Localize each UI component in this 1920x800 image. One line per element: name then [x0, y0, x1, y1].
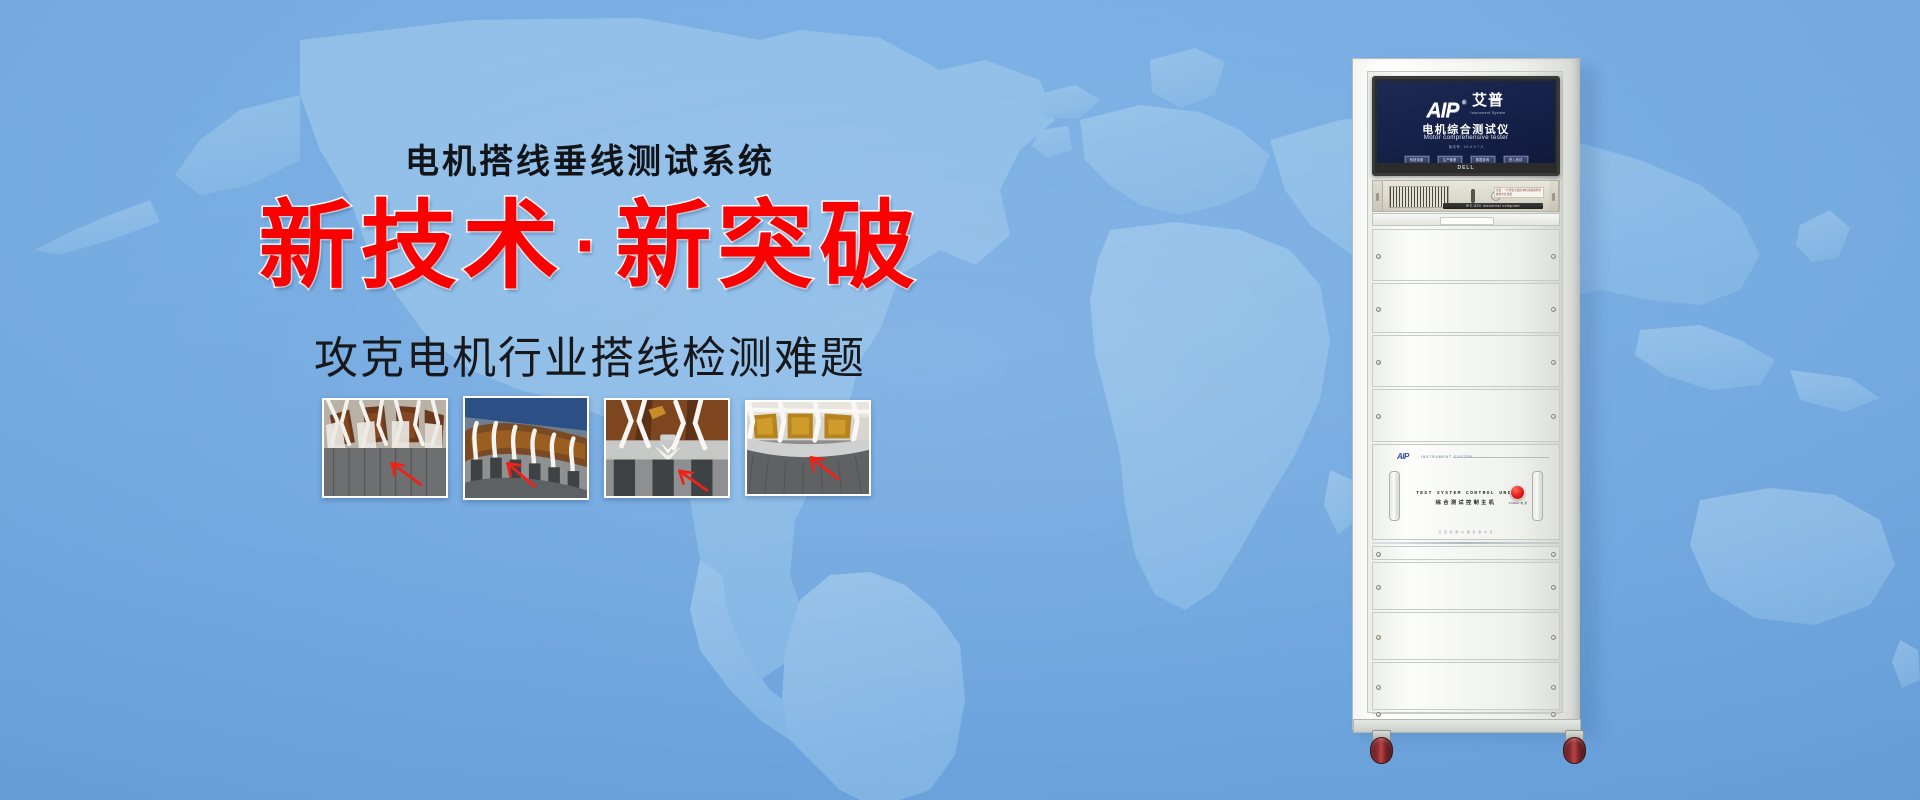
registered-icon: ® — [1462, 100, 1465, 106]
power-button[interactable] — [1510, 485, 1525, 500]
ipc-rack-ear-left — [1373, 181, 1383, 211]
test-system-control-unit: AIP INSTRUMENT SYSTEM TEST SYSTEM CONTRO… — [1372, 444, 1560, 540]
rack-separator-1 — [1372, 542, 1560, 544]
aip-logo-subtitle: Instrument System — [1470, 111, 1505, 115]
screen-button-start-test[interactable]: 进入测试 — [1503, 155, 1529, 163]
manufacturer-footer: 艾 普 智 能 仪 器 有 限 公 司 — [1373, 530, 1559, 534]
ipc-warning-label: 注意：一户型安全使用 本机请按说明书 操作方式 规定 — [1494, 187, 1544, 198]
thumbnail-image-2[interactable] — [463, 396, 589, 500]
screen-button-production[interactable]: 生产管理 — [1437, 155, 1463, 163]
ipc-rack-ear-right — [1549, 181, 1559, 211]
cabinet-frame: AIP®艾普Instrument System 电机综合测试仪 Motor co… — [1352, 58, 1580, 730]
control-unit-handle-left[interactable] — [1389, 471, 1400, 521]
panel-hairline — [1453, 457, 1549, 458]
rack-blank-panel-6 — [1372, 562, 1560, 610]
thumbnail-image-1[interactable] — [322, 398, 448, 498]
page-title: 新技术·新突破 — [0, 195, 1180, 299]
aip-mark: AIP — [1397, 452, 1409, 461]
aip-logo-text: AIP® — [1426, 99, 1458, 123]
ipc-drive-slot[interactable] — [1471, 189, 1475, 203]
promo-banner: 电机搭线垂线测试系统 新技术·新突破 攻克电机行业搭线检测难题 — [0, 0, 1920, 800]
monitor: AIP®艾普Instrument System 电机综合测试仪 Motor co… — [1372, 76, 1560, 176]
ipc-model-label: IPC-620 Industrial computer — [1443, 203, 1543, 209]
thumbnail-strip — [0, 398, 1180, 500]
rack-blank-panel-9 — [1372, 712, 1560, 714]
ventilation-grille-icon — [1389, 186, 1449, 208]
cabinet-rack: AIP®艾普Instrument System 电机综合测试仪 Motor co… — [1367, 71, 1563, 713]
caster-wheel-icon-left — [1370, 737, 1393, 764]
thumbnail-image-4[interactable] — [745, 400, 871, 496]
rack-blank-panel-1 — [1372, 229, 1560, 281]
caster-wheel-icon-right — [1563, 737, 1586, 764]
product-name-en: Motor comprehensive tester — [1377, 134, 1555, 141]
power-button-group: POWER 电 源 — [1509, 485, 1527, 505]
headline-separator-dot: · — [565, 206, 616, 286]
rack-blank-panel-3 — [1372, 335, 1560, 387]
industrial-computer: AC 注意：一户型安全使用 本机请按说明书 操作方式 规定 IPC-620 In… — [1372, 180, 1560, 212]
control-unit-title-cn: 综合测试控制主机 — [1373, 499, 1559, 506]
control-unit-title-en: TEST SYSTEM CONTROL UNIT — [1373, 491, 1559, 496]
software-version: 版本号：V4.0.0.7.0 — [1377, 144, 1555, 149]
power-button-label: POWER 电 源 — [1509, 501, 1527, 505]
keyboard-drawer[interactable] — [1372, 213, 1560, 226]
monitor-brand-label: DELL — [1375, 163, 1557, 173]
caster-wheel-left — [1370, 730, 1391, 764]
headline-right: 新突破 — [615, 193, 921, 300]
banner-copy: 电机搭线垂线测试系统 新技术·新突破 攻克电机行业搭线检测难题 — [0, 0, 1180, 800]
rack-blank-panel-2 — [1372, 283, 1560, 333]
screen-logo: AIP®艾普Instrument System — [1377, 92, 1555, 123]
screen-button-system-settings[interactable]: 系统设置 — [1404, 155, 1430, 163]
control-unit-handle-right[interactable] — [1532, 471, 1543, 521]
screen-button-data-query[interactable]: 数据查询 — [1470, 155, 1496, 163]
caster-wheel-right — [1563, 730, 1584, 764]
subtitle: 攻克电机行业搭线检测难题 — [0, 322, 1180, 386]
thumbnail-image-3[interactable] — [604, 398, 730, 498]
rack-blank-panel-5 — [1372, 546, 1560, 560]
test-system-cabinet: AIP®艾普Instrument System 电机综合测试仪 Motor co… — [1352, 58, 1602, 768]
rack-blank-panel-7 — [1372, 612, 1560, 660]
aip-logo-chinese: 艾普Instrument System — [1470, 89, 1505, 115]
ipc-front-panel: AC 注意：一户型安全使用 本机请按说明书 操作方式 规定 IPC-620 In… — [1383, 181, 1549, 211]
monitor-screen[interactable]: AIP®艾普Instrument System 电机综合测试仪 Motor co… — [1377, 81, 1555, 163]
screen-button-row: 系统设置 生产管理 数据查询 进入测试 — [1377, 155, 1555, 163]
rack-blank-panel-8 — [1372, 662, 1560, 710]
eyebrow-title: 电机搭线垂线测试系统 — [0, 134, 1180, 183]
rack-blank-panel-4 — [1372, 389, 1560, 442]
headline-left: 新技术 — [259, 193, 565, 300]
